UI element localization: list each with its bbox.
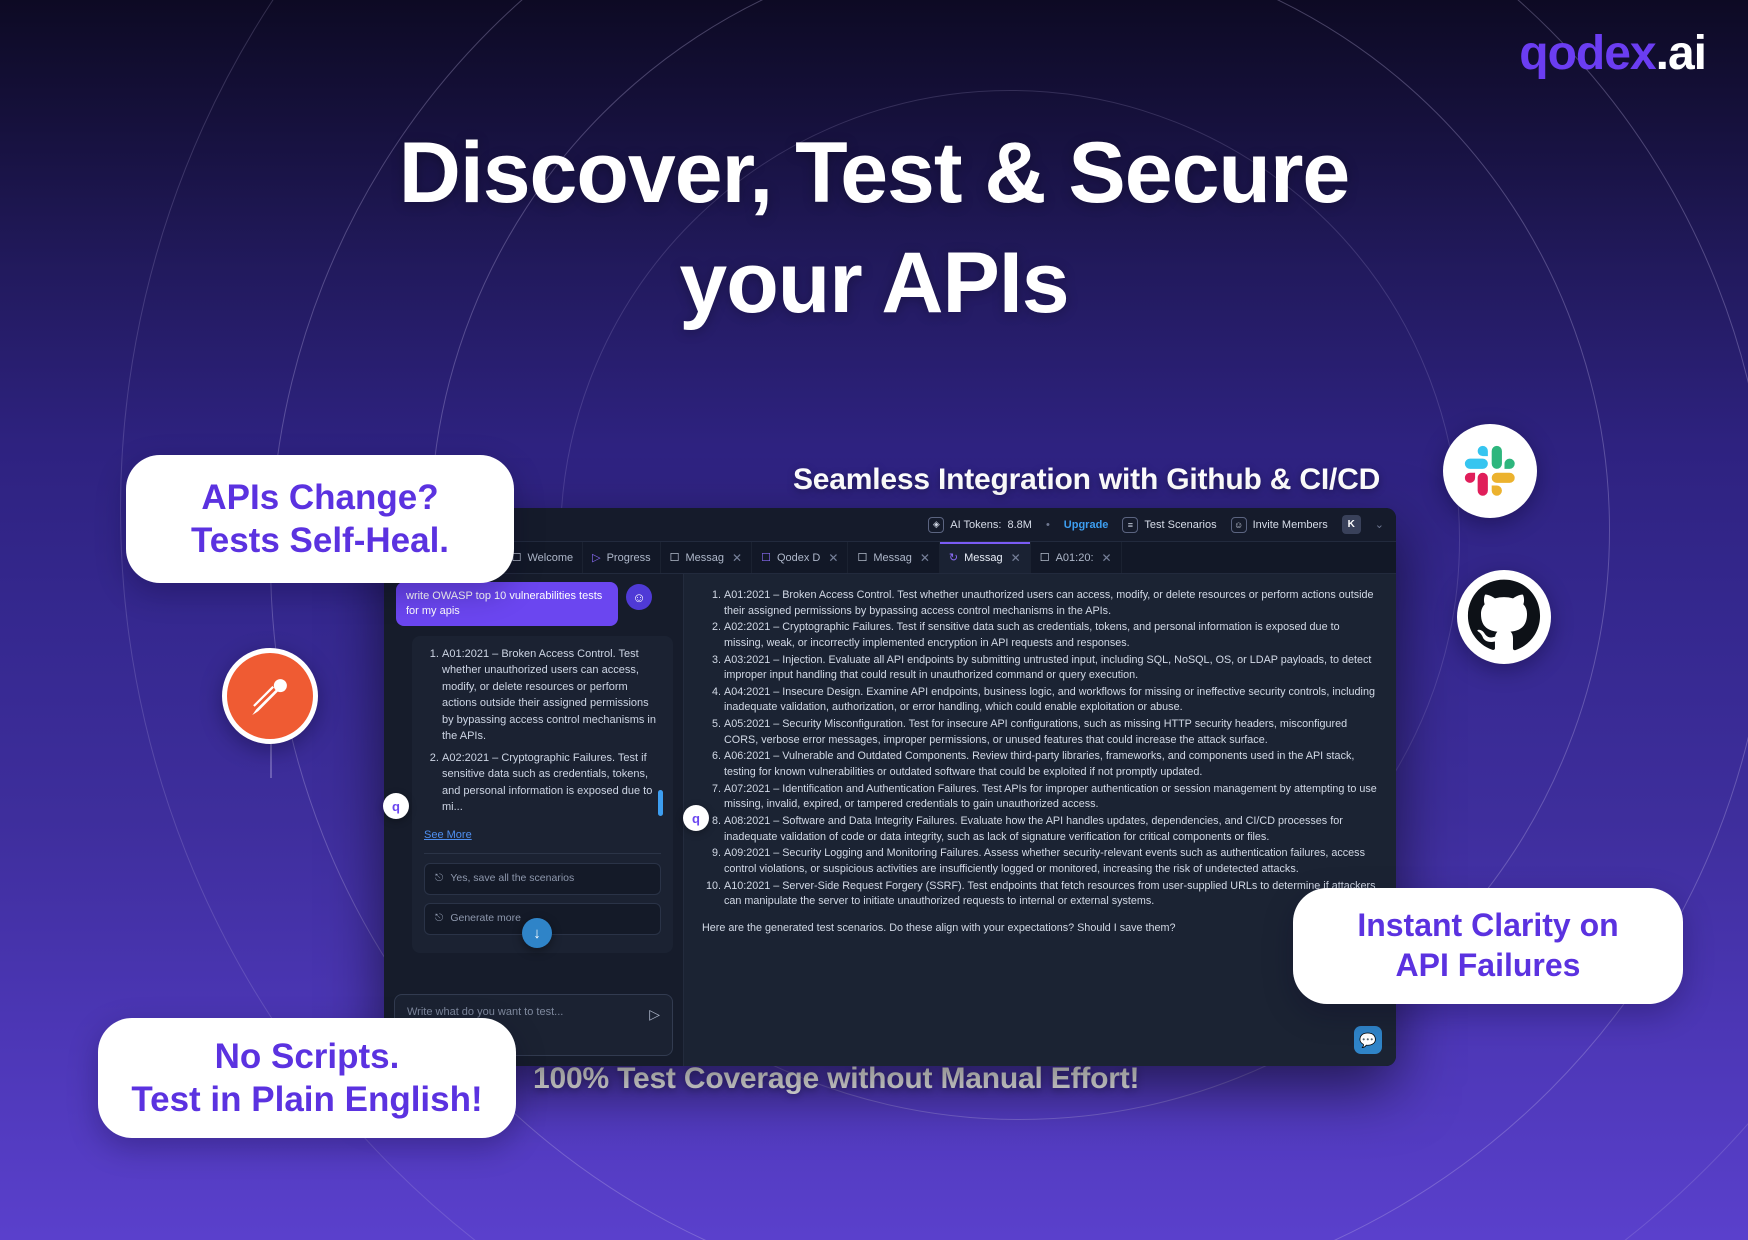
bot-list: A01:2021 – Broken Access Control. Test w… — [424, 646, 661, 816]
test-scenarios-label: Test Scenarios — [1144, 519, 1216, 531]
app-topbar: emo ◈ AI Tokens: 8.8M • Upgrade ≡ Test S… — [384, 508, 1396, 542]
callout-line-1: APIs Change? — [191, 476, 449, 519]
suggestion-label: Generate more — [450, 911, 521, 927]
user-message-bubble: write OWASP top 10 vulnerabilities tests… — [396, 582, 618, 626]
see-more-link[interactable]: See More — [424, 827, 472, 844]
logo-suffix: .ai — [1656, 27, 1706, 80]
cube-icon: ◈ — [928, 517, 944, 533]
closing-message: Here are the generated test scenarios. D… — [702, 922, 1378, 934]
user-message-row: write OWASP top 10 vulnerabilities tests… — [394, 582, 673, 626]
list-item: A01:2021 – Broken Access Control. Test w… — [724, 588, 1378, 619]
chat-panel: write OWASP top 10 vulnerabilities tests… — [384, 574, 684, 1066]
list-item: A07:2021 – Identification and Authentica… — [724, 782, 1378, 813]
callout-line-1: Instant Clarity on — [1357, 906, 1618, 946]
logo-word-mark: qodex — [1519, 27, 1655, 80]
send-icon[interactable]: ▷ — [649, 1006, 660, 1023]
tab-message-1[interactable]: ☐ Messag ✕ — [661, 542, 752, 573]
ai-tokens-value: 8.8M — [1007, 519, 1031, 531]
cursor-click-icon: ⎋ — [435, 911, 443, 927]
banner-integration: Seamless Integration with Github & CI/CD — [793, 463, 1380, 497]
list-item: A05:2021 – Security Misconfiguration. Te… — [724, 717, 1378, 748]
suggestion-save-scenarios[interactable]: ⎋ Yes, save all the scenarios — [424, 863, 661, 895]
page-title: Discover, Test & Secure your APIs — [0, 118, 1748, 338]
close-icon[interactable]: ✕ — [1011, 551, 1021, 565]
app-body: write OWASP top 10 vulnerabilities tests… — [384, 574, 1396, 1066]
avatar[interactable]: K — [1342, 515, 1361, 534]
support-chat-button[interactable]: 💬 — [1354, 1026, 1382, 1054]
connector-line — [270, 744, 272, 778]
close-icon[interactable]: ✕ — [920, 551, 930, 565]
list-item: A06:2021 – Vulnerable and Outdated Compo… — [724, 749, 1378, 780]
close-icon[interactable]: ✕ — [1102, 551, 1112, 565]
qodex-avatar-right: q — [683, 805, 709, 831]
ai-tokens-label: AI Tokens: — [950, 519, 1001, 531]
cursor-click-icon: ⎋ — [435, 871, 443, 887]
tab-label: A01:20: — [1056, 552, 1094, 564]
slack-badge — [1443, 424, 1537, 518]
tab-progress[interactable]: ▷ Progress — [583, 542, 661, 573]
slack-icon — [1464, 445, 1516, 497]
callout-self-heal: APIs Change? Tests Self-Heal. — [126, 455, 514, 583]
bot-message-card: A01:2021 – Broken Access Control. Test w… — [412, 636, 673, 953]
divider — [424, 853, 661, 854]
tab-label: Messag — [964, 552, 1003, 564]
person-add-icon: ☺ — [1231, 517, 1247, 533]
suggestion-label: Yes, save all the scenarios — [450, 871, 574, 887]
content-panel: A01:2021 – Broken Access Control. Test w… — [684, 574, 1396, 1066]
chat-input-placeholder: Write what do you want to test... — [407, 1006, 563, 1018]
callout-api-failures: Instant Clarity on API Failures — [1293, 888, 1683, 1004]
banner-coverage: 100% Test Coverage without Manual Effort… — [533, 1062, 1139, 1096]
callout-line-2: API Failures — [1357, 946, 1618, 986]
monitor-icon: ☐ — [1040, 551, 1050, 564]
postman-icon — [243, 669, 297, 723]
close-icon[interactable]: ✕ — [828, 551, 838, 565]
headline-line-2: your APIs — [0, 228, 1748, 338]
list-item: A10:2021 – Server-Side Request Forgery (… — [724, 879, 1378, 910]
monitor-icon: ☐ — [670, 551, 680, 564]
postman-badge — [222, 648, 318, 744]
scenario-list: A01:2021 – Broken Access Control. Test w… — [702, 588, 1378, 910]
list-item: A01:2021 – Broken Access Control. Test w… — [442, 646, 661, 745]
callout-line-2: Test in Plain English! — [131, 1078, 482, 1121]
tab-label: Qodex D — [777, 552, 820, 564]
refresh-icon: ↻ — [949, 551, 958, 564]
invite-members-button[interactable]: ☺ Invite Members — [1231, 517, 1328, 533]
tab-strip: ult + New Chat ⌄ ☐ Welcome ▷ Progress ☐ … — [384, 542, 1396, 574]
tab-label: Progress — [607, 552, 651, 564]
qodex-avatar-left: q — [383, 793, 409, 819]
list-item: A02:2021 – Cryptographic Failures. Test … — [724, 620, 1378, 651]
callout-plain-english: No Scripts. Test in Plain English! — [98, 1018, 516, 1138]
list-item: A02:2021 – Cryptographic Failures. Test … — [442, 750, 661, 816]
scroll-marker — [658, 790, 663, 816]
tab-welcome[interactable]: ☐ Welcome — [503, 542, 584, 573]
callout-line-2: Tests Self-Heal. — [191, 519, 449, 562]
qodex-logo: qodex.ai — [1519, 30, 1706, 78]
github-badge — [1457, 570, 1551, 664]
tab-a01[interactable]: ☐ A01:20: ✕ — [1031, 542, 1122, 573]
list-item: A08:2021 – Software and Data Integrity F… — [724, 814, 1378, 845]
close-icon[interactable]: ✕ — [732, 551, 742, 565]
play-icon: ▷ — [592, 551, 600, 564]
list-item: A09:2021 – Security Logging and Monitori… — [724, 846, 1378, 877]
tab-message-2[interactable]: ☐ Messag ✕ — [848, 542, 939, 573]
monitor-icon: ☐ — [857, 551, 867, 564]
list-checks-icon: ≡ — [1122, 517, 1138, 533]
test-scenarios-button[interactable]: ≡ Test Scenarios — [1122, 517, 1216, 533]
chat-scroll-area[interactable]: write OWASP top 10 vulnerabilities tests… — [384, 574, 683, 984]
headline-line-1: Discover, Test & Secure — [399, 125, 1350, 221]
tab-qodex-d[interactable]: ☐ Qodex D ✕ — [752, 542, 848, 573]
tab-message-3-active[interactable]: ↻ Messag ✕ — [940, 542, 1031, 573]
copy-icon: ☐ — [761, 551, 771, 564]
tab-label: Welcome — [527, 552, 573, 564]
github-icon — [1465, 578, 1543, 656]
app-window-screenshot: emo ◈ AI Tokens: 8.8M • Upgrade ≡ Test S… — [384, 508, 1396, 1066]
tab-label: Messag — [685, 552, 724, 564]
list-item: A04:2021 – Insecure Design. Examine API … — [724, 685, 1378, 716]
tab-label: Messag — [873, 552, 912, 564]
callout-line-1: No Scripts. — [131, 1035, 482, 1078]
topbar-separator: • — [1046, 519, 1050, 531]
user-avatar-icon: ☺ — [626, 584, 652, 610]
ai-tokens-indicator: ◈ AI Tokens: 8.8M — [928, 517, 1032, 533]
chevron-down-icon[interactable]: ⌄ — [1375, 518, 1384, 531]
list-item: A03:2021 – Injection. Evaluate all API e… — [724, 653, 1378, 684]
upgrade-link[interactable]: Upgrade — [1064, 519, 1109, 531]
topbar-right-group: ◈ AI Tokens: 8.8M • Upgrade ≡ Test Scena… — [928, 515, 1384, 534]
invite-members-label: Invite Members — [1253, 519, 1328, 531]
scroll-to-bottom-button[interactable]: ↓ — [522, 918, 552, 948]
